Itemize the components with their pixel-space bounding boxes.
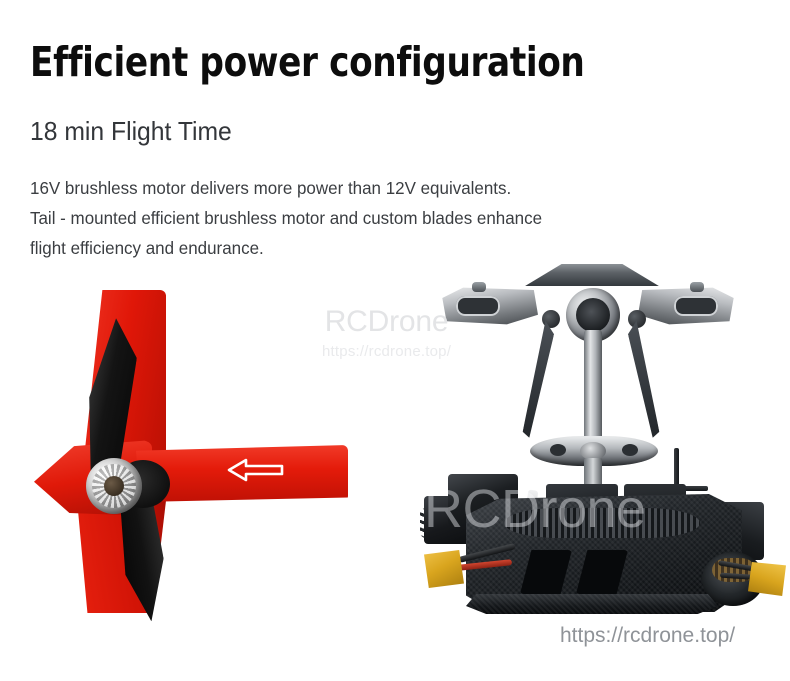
- description-line-2: Tail - mounted efficient brushless motor…: [30, 203, 709, 233]
- helicopter-frame-photo: [418, 258, 790, 636]
- swashplate-hole-left: [550, 444, 566, 456]
- product-feature-page: Efficient power configuration 18 min Fli…: [0, 0, 790, 681]
- landing-base-plate: [466, 594, 718, 614]
- flybar-paddle: [516, 264, 668, 286]
- blade-grip-right-bolt: [690, 282, 704, 292]
- control-link-left: [516, 319, 556, 439]
- xt60-connector-left: [424, 550, 464, 588]
- page-title: Efficient power configuration: [30, 38, 584, 86]
- blade-grip-left-window: [456, 296, 500, 316]
- description-line-1: 16V brushless motor delivers more power …: [30, 173, 709, 203]
- control-link-right: [626, 319, 666, 439]
- swashplate-hole-right: [622, 444, 638, 456]
- spinner-center-screw: [104, 476, 124, 496]
- tail-rotor-photo: [28, 282, 338, 622]
- subtitle-flight-time: 18 min Flight Time: [30, 116, 232, 147]
- direction-arrow-icon: [224, 457, 286, 483]
- bottom-watermark-url: https://rcdrone.top/: [560, 624, 735, 648]
- blade-grip-right-window: [674, 296, 718, 316]
- description-block: 16V brushless motor delivers more power …: [30, 173, 709, 263]
- main-drive-gear: [504, 508, 700, 538]
- blade-grip-left-bolt: [472, 282, 486, 292]
- xt60-connector-right: [748, 562, 786, 596]
- rotor-head-center: [576, 298, 610, 332]
- main-mast: [584, 330, 602, 440]
